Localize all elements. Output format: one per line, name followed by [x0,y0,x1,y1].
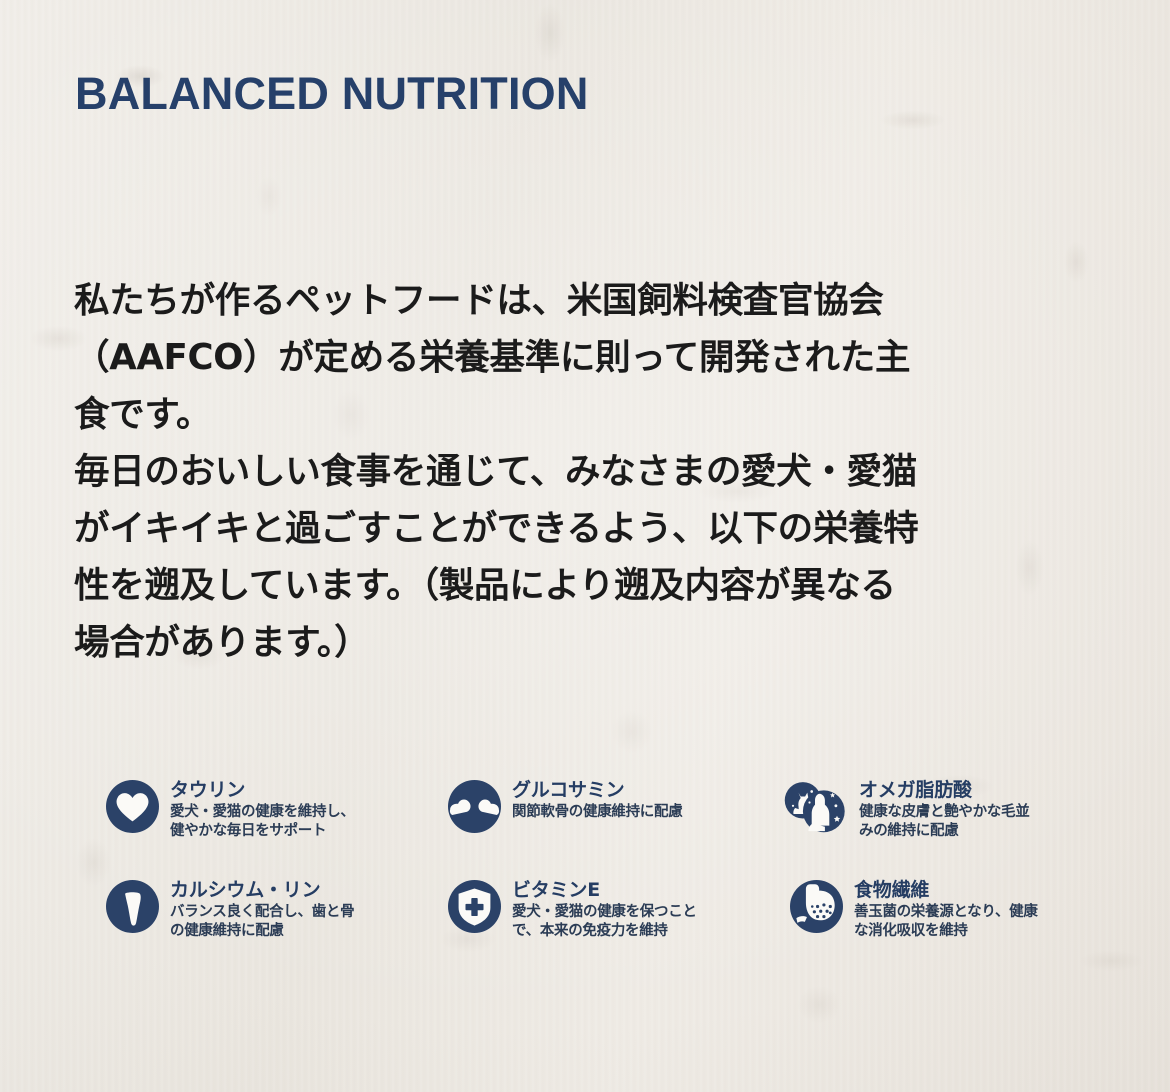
shield-plus-icon [448,880,501,933]
desc-line: 愛犬・愛猫の健康を保つこと [512,903,697,922]
paragraph-2-line-2: がイキイキと過ごすことができるよう、以下の栄養特 [74,500,1096,557]
desc-line: 健康な皮膚と艶やかな毛並 [859,803,1029,822]
paragraph-2-line-1: 毎日のおいしい食事を通じて、みなさまの愛犬・愛猫 [74,443,1096,500]
cat-dog-icon [782,780,848,836]
desc-line: の健康維持に配慮 [170,922,354,941]
feature-text-glucosamine: グルコサミン 関節軟骨の健康維持に配慮 [512,778,682,822]
feature-text-dietary-fiber: 食物繊維 善玉菌の栄養源となり、健康 な消化吸収を維持 [854,878,1038,941]
desc-line: 善玉菌の栄養源となり、健康 [854,903,1038,922]
feature-description: バランス良く配合し、歯と骨 の健康維持に配慮 [170,903,354,941]
tooth-icon [106,880,159,933]
feature-title: オメガ脂肪酸 [859,779,1029,801]
paragraph-1-line-2: （AAFCO）が定める栄養基準に則って開発された主 [74,329,1096,386]
feature-description: 愛犬・愛猫の健康を維持し、 健やかな毎日をサポート [170,803,355,841]
paragraph-1-line-1: 私たちが作るペットフードは、米国飼料検査官協会 [74,272,1096,329]
body-copy: 私たちが作るペットフードは、米国飼料検査官協会 （AAFCO）が定める栄養基準に… [74,272,1096,671]
nutrition-feature-grid: タウリン 愛犬・愛猫の健康を維持し、 健やかな毎日をサポート グルコサミン [106,778,1106,978]
desc-line: 健やかな毎日をサポート [170,822,355,841]
feature-text-taurine: タウリン 愛犬・愛猫の健康を維持し、 健やかな毎日をサポート [170,778,355,841]
feature-item-calcium-phosphorus: カルシウム・リン バランス良く配合し、歯と骨 の健康維持に配慮 [106,878,448,978]
paragraph-2-line-4: 場合があります。） [74,614,1096,671]
feature-description: 健康な皮膚と艶やかな毛並 みの維持に配慮 [859,803,1029,841]
feature-item-dietary-fiber: 食物繊維 善玉菌の栄養源となり、健康 な消化吸収を維持 [790,878,1106,978]
feature-title: グルコサミン [512,779,682,801]
feature-title: 食物繊維 [854,879,1038,901]
feature-description: 愛犬・愛猫の健康を保つこと で、本来の免疫力を維持 [512,903,697,941]
feature-item-taurine: タウリン 愛犬・愛猫の健康を維持し、 健やかな毎日をサポート [106,778,448,878]
desc-line: 愛犬・愛猫の健康を維持し、 [170,803,355,822]
feature-text-vitamin-e: ビタミンE 愛犬・愛猫の健康を保つこと で、本来の免疫力を維持 [512,878,697,941]
feature-text-calcium-phosphorus: カルシウム・リン バランス良く配合し、歯と骨 の健康維持に配慮 [170,878,354,941]
desc-line: 関節軟骨の健康維持に配慮 [512,803,682,822]
feature-text-omega-fatty-acids: オメガ脂肪酸 健康な皮膚と艶やかな毛並 みの維持に配慮 [859,778,1029,841]
desc-line: で、本来の免疫力を維持 [512,922,697,941]
desc-line: な消化吸収を維持 [854,922,1038,941]
feature-item-vitamin-e: ビタミンE 愛犬・愛猫の健康を保つこと で、本来の免疫力を維持 [448,878,790,978]
feature-title: カルシウム・リン [170,879,354,901]
desc-line: バランス良く配合し、歯と骨 [170,903,354,922]
joint-bone-icon [448,780,501,833]
feature-description: 関節軟骨の健康維持に配慮 [512,803,682,822]
desc-line: みの維持に配慮 [859,822,1029,841]
feature-title: タウリン [170,779,355,801]
feature-description: 善玉菌の栄養源となり、健康 な消化吸収を維持 [854,903,1038,941]
feature-item-glucosamine: グルコサミン 関節軟骨の健康維持に配慮 [448,778,790,878]
stomach-fiber-icon [790,880,843,933]
feature-item-omega-fatty-acids: オメガ脂肪酸 健康な皮膚と艶やかな毛並 みの維持に配慮 [790,778,1106,878]
heart-icon [106,780,159,833]
paragraph-2-line-3: 性を遡及しています。（製品により遡及内容が異なる [74,557,1096,614]
paragraph-1-line-3: 食です。 [74,386,1096,443]
page-title: BALANCED NUTRITION [75,68,589,120]
feature-title: ビタミンE [512,879,697,901]
